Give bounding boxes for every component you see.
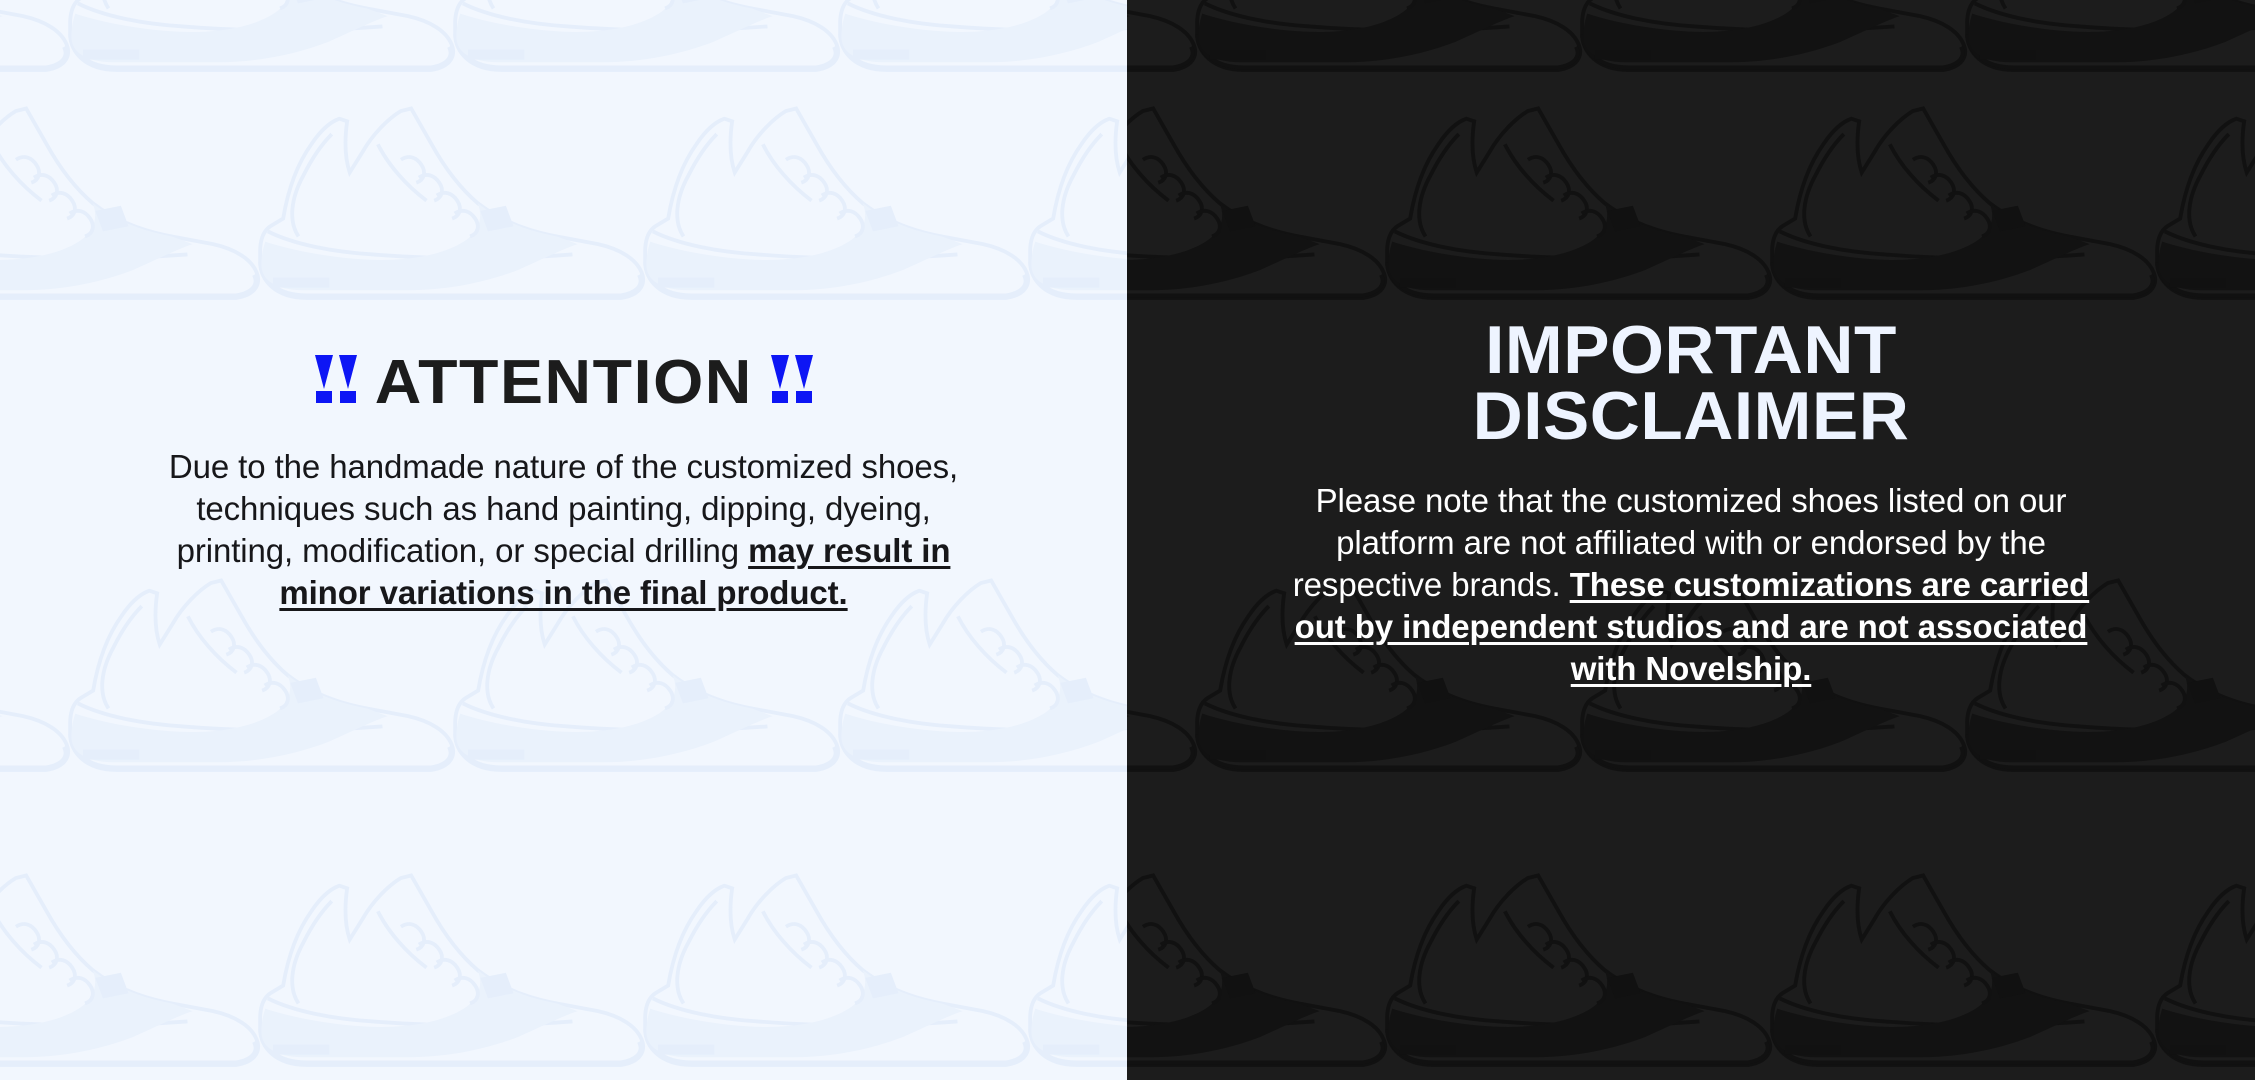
attention-panel: ATTENTION Due to the handmade nature of …	[0, 0, 1127, 1080]
attention-body: Due to the handmade nature of the custom…	[169, 446, 959, 614]
disclaimer-heading-line-2: DISCLAIMER	[1473, 378, 1910, 454]
disclaimer-content: IMPORTANT DISCLAIMER Please note that th…	[1127, 0, 2255, 689]
disclaimer-panel: IMPORTANT DISCLAIMER Please note that th…	[1127, 0, 2255, 1080]
double-exclamation-icon-left	[315, 355, 356, 412]
attention-heading-row: ATTENTION	[0, 352, 1127, 414]
attention-content: ATTENTION Due to the handmade nature of …	[0, 0, 1127, 614]
attention-heading: ATTENTION	[374, 352, 752, 414]
disclaimer-heading-line-1: IMPORTANT	[1485, 312, 1897, 388]
dual-notice-banner: ATTENTION Due to the handmade nature of …	[0, 0, 2255, 1080]
disclaimer-heading: IMPORTANT DISCLAIMER	[1127, 318, 2255, 450]
double-exclamation-icon-right	[771, 355, 812, 412]
disclaimer-body: Please note that the customized shoes li…	[1281, 480, 2101, 690]
